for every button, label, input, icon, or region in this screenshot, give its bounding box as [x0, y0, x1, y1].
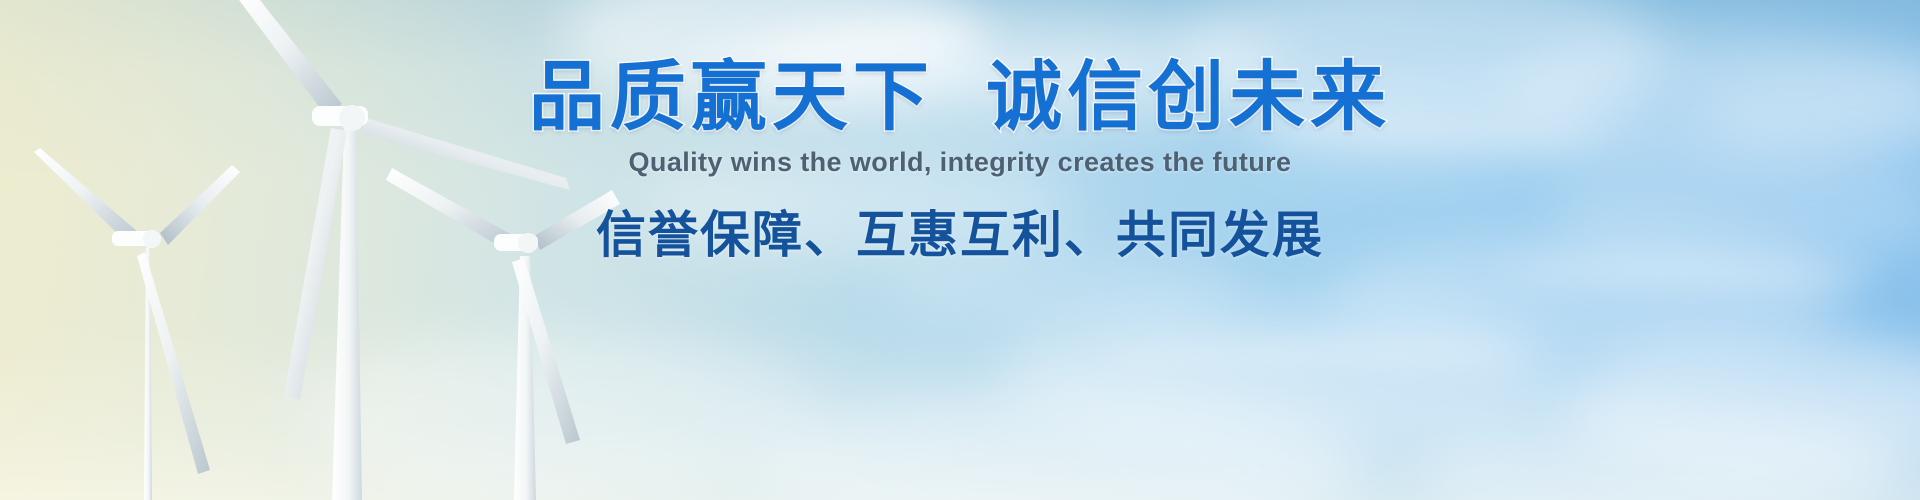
- banner-slogan-chinese: 信誉保障、互惠互利、共同发展: [596, 208, 1324, 263]
- banner-subtitle-english: Quality wins the world, integrity create…: [629, 148, 1292, 178]
- hero-banner: 品质赢天下 诚信创未来 Quality wins the world, inte…: [0, 0, 1920, 500]
- banner-headline-chinese: 品质赢天下 诚信创未来: [529, 60, 1391, 136]
- banner-text-block: 品质赢天下 诚信创未来 Quality wins the world, inte…: [0, 0, 1920, 500]
